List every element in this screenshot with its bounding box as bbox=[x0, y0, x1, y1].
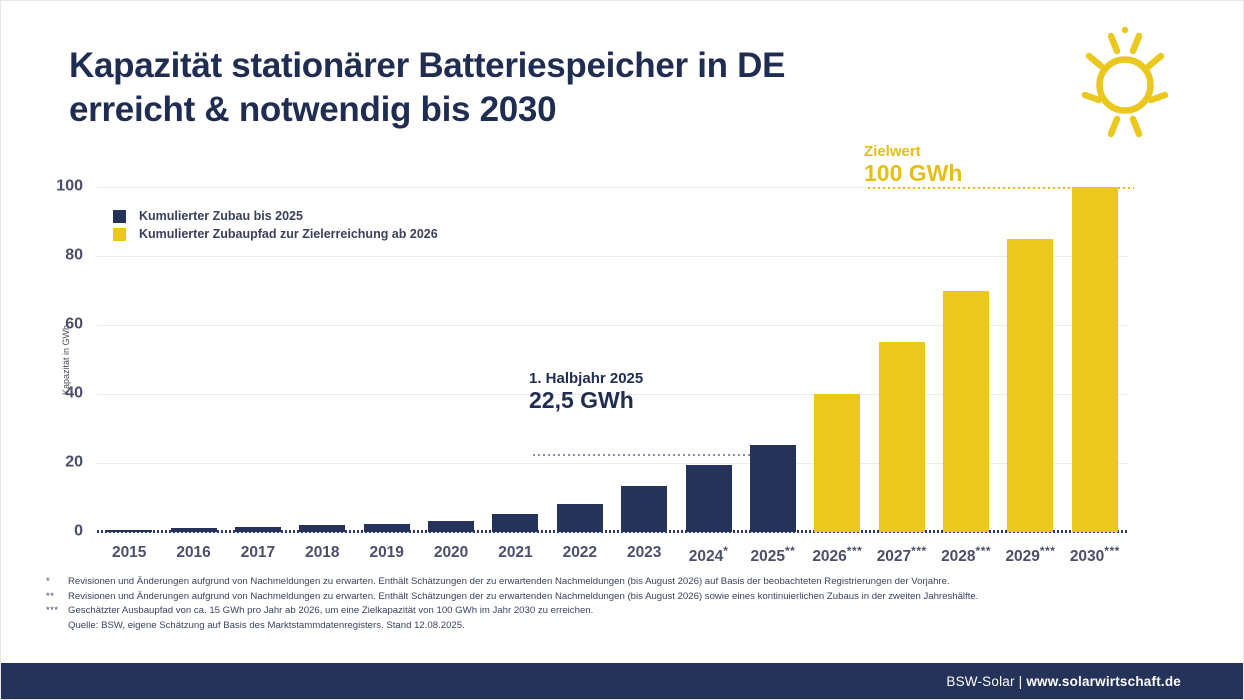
footer-credit: BSW-Solar | www.solarwirtschaft.de bbox=[946, 674, 1181, 689]
bar-slot: 2015 bbox=[97, 187, 161, 532]
bar-2025[interactable] bbox=[750, 445, 796, 532]
xtick-label: 2022 bbox=[563, 544, 597, 562]
bar-slot: 2023 bbox=[612, 187, 676, 532]
bar-group: 2015 2016 2017 2018 2019 bbox=[97, 187, 1127, 532]
page-title: Kapazität stationärer Batteriespeicher i… bbox=[69, 44, 969, 132]
xtick-label: 2028*** bbox=[941, 544, 991, 566]
bar-slot: 2024* bbox=[676, 187, 740, 532]
xtick-label: 2017 bbox=[241, 544, 275, 562]
xtick-label: 2025** bbox=[751, 544, 796, 566]
footnote-row: ** Revisionen und Änderungen aufgrund vo… bbox=[46, 590, 1206, 605]
bar-2029[interactable] bbox=[1007, 239, 1053, 532]
bar-2018[interactable] bbox=[299, 525, 345, 532]
bar-2027[interactable] bbox=[879, 342, 925, 532]
bar-slot: 2018 bbox=[290, 187, 354, 532]
footer-bar: BSW-Solar | www.solarwirtschaft.de bbox=[1, 663, 1243, 699]
xtick-label: 2016 bbox=[176, 544, 210, 562]
bar-2015[interactable] bbox=[106, 530, 152, 532]
xtick-label: 2024* bbox=[689, 544, 729, 566]
footnote-text: Geschätzter Ausbaupfad von ca. 15 GWh pr… bbox=[68, 604, 593, 619]
footnotes: * Revisionen und Änderungen aufgrund von… bbox=[46, 575, 1206, 633]
bar-slot: 2026*** bbox=[805, 187, 869, 532]
xtick-label: 2023 bbox=[627, 544, 661, 562]
source-text: Quelle: BSW, eigene Schätzung auf Basis … bbox=[68, 619, 465, 634]
plot-area: 100 80 60 40 20 0 Kapazität in GWh Kumul… bbox=[97, 187, 1127, 532]
footnote-marker: *** bbox=[46, 604, 68, 619]
bar-2019[interactable] bbox=[364, 524, 410, 532]
footnote-row: * Revisionen und Änderungen aufgrund von… bbox=[46, 575, 1206, 590]
bar-chart: 100 80 60 40 20 0 Kapazität in GWh Kumul… bbox=[97, 187, 1127, 532]
bar-slot: 2029*** bbox=[998, 187, 1062, 532]
bar-2026[interactable] bbox=[814, 394, 860, 532]
xtick-label: 2020 bbox=[434, 544, 468, 562]
xtick-label: 2027*** bbox=[877, 544, 927, 566]
bar-slot: 2022 bbox=[548, 187, 612, 532]
bar-slot: 2021 bbox=[483, 187, 547, 532]
bar-slot: 2016 bbox=[161, 187, 225, 532]
annotation-label: Zielwert bbox=[864, 143, 962, 160]
y-axis-title: Kapazität in GWh bbox=[61, 324, 71, 394]
ytick-label: 100 bbox=[56, 178, 83, 196]
xtick-label: 2015 bbox=[112, 544, 146, 562]
xtick-label: 2030*** bbox=[1070, 544, 1120, 566]
xtick-label: 2026*** bbox=[812, 544, 862, 566]
sun-icon bbox=[1055, 25, 1195, 145]
footnote-row: Quelle: BSW, eigene Schätzung auf Basis … bbox=[46, 619, 1206, 634]
xtick-label: 2019 bbox=[369, 544, 403, 562]
bar-2016[interactable] bbox=[171, 528, 217, 532]
xtick-label: 2029*** bbox=[1005, 544, 1055, 566]
bar-2023[interactable] bbox=[621, 486, 667, 532]
bar-2024[interactable] bbox=[686, 465, 732, 532]
bar-slot: 2027*** bbox=[870, 187, 934, 532]
bar-2017[interactable] bbox=[235, 527, 281, 532]
xtick-label: 2018 bbox=[305, 544, 339, 562]
footnote-row: *** Geschätzter Ausbaupfad von ca. 15 GW… bbox=[46, 604, 1206, 619]
footnote-marker: ** bbox=[46, 590, 68, 605]
bar-2030[interactable] bbox=[1072, 187, 1118, 532]
ytick-label: 80 bbox=[65, 247, 83, 265]
bar-2022[interactable] bbox=[557, 504, 603, 532]
footnote-text: Revisionen und Änderungen aufgrund von N… bbox=[68, 590, 978, 605]
infographic-canvas: Kapazität stationärer Batteriespeicher i… bbox=[0, 0, 1244, 700]
bar-slot: 2020 bbox=[419, 187, 483, 532]
footnote-marker: * bbox=[46, 575, 68, 590]
footer-separator: | bbox=[1015, 674, 1027, 689]
title-line-1: Kapazität stationärer Batteriespeicher i… bbox=[69, 44, 969, 88]
ytick-label: 20 bbox=[65, 454, 83, 472]
bar-2028[interactable] bbox=[943, 291, 989, 533]
title-line-2: erreicht & notwendig bis 2030 bbox=[69, 88, 969, 132]
ytick-label: 0 bbox=[74, 523, 83, 541]
bar-slot: 2017 bbox=[226, 187, 290, 532]
xtick-label: 2021 bbox=[498, 544, 532, 562]
footnote-text: Revisionen und Änderungen aufgrund von N… bbox=[68, 575, 950, 590]
bar-slot: 2019 bbox=[355, 187, 419, 532]
bar-slot: 2030*** bbox=[1063, 187, 1127, 532]
footer-site[interactable]: www.solarwirtschaft.de bbox=[1026, 674, 1181, 689]
bar-slot: 2028*** bbox=[934, 187, 998, 532]
footer-org: BSW-Solar bbox=[946, 674, 1014, 689]
bar-2020[interactable] bbox=[428, 521, 474, 532]
annotation-zielwert: Zielwert 100 GWh bbox=[864, 143, 962, 187]
bar-slot: 2025** bbox=[741, 187, 805, 532]
bar-2021[interactable] bbox=[492, 514, 538, 532]
annotation-value: 100 GWh bbox=[864, 160, 962, 186]
